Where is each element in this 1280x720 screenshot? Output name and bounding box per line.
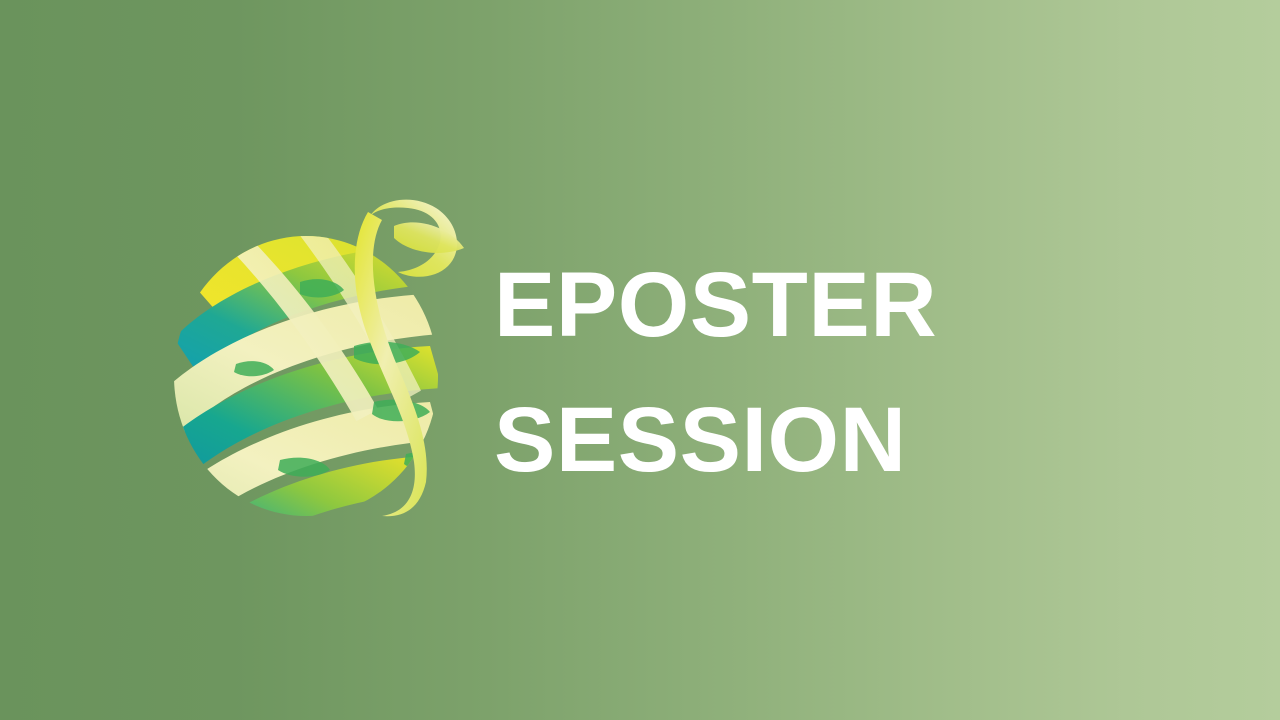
slide-canvas: EPOSTER SESSION xyxy=(0,0,1280,720)
page-title-line-1: EPOSTER xyxy=(494,238,1014,373)
page-title-line-2: SESSION xyxy=(494,373,1014,508)
wordmark: EPOSTER SESSION xyxy=(494,238,1014,508)
leaf-blade-icon xyxy=(394,222,464,253)
globe-body xyxy=(168,196,464,522)
globe-ribbon-leaf-logo xyxy=(168,196,468,522)
